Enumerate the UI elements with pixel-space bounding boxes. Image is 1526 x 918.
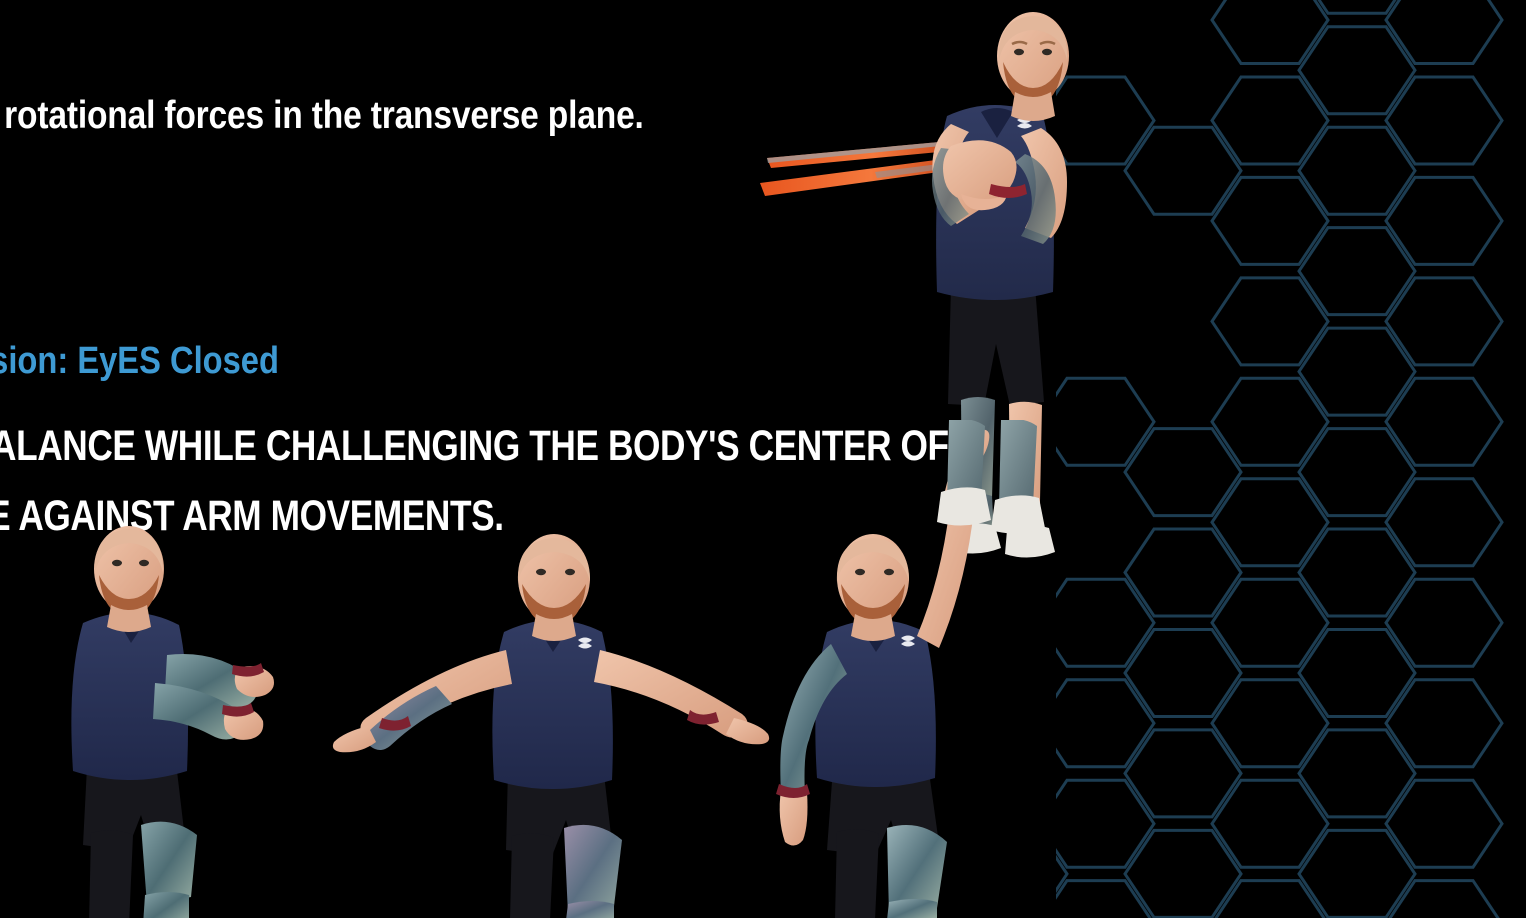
left-hand <box>333 726 376 752</box>
figure-man-single-leg-balance-arms-wide <box>330 520 770 918</box>
raised-leg-tattoo <box>564 825 622 914</box>
head <box>94 526 164 617</box>
hexagon-pattern-decoration <box>1056 0 1526 918</box>
presentation-slide: t rotational forces in the transverse pl… <box>0 0 1526 918</box>
figure-man-single-leg-balance-arms-forward <box>55 515 320 918</box>
intro-text-line: t rotational forces in the transverse pl… <box>0 92 644 140</box>
partial-leg-and-shoe-overlap <box>935 420 1055 580</box>
progression-heading: ssion: EyES Closed <box>0 337 279 385</box>
head <box>518 534 590 626</box>
head <box>997 12 1069 106</box>
right-arm <box>594 650 748 738</box>
head <box>837 534 909 626</box>
